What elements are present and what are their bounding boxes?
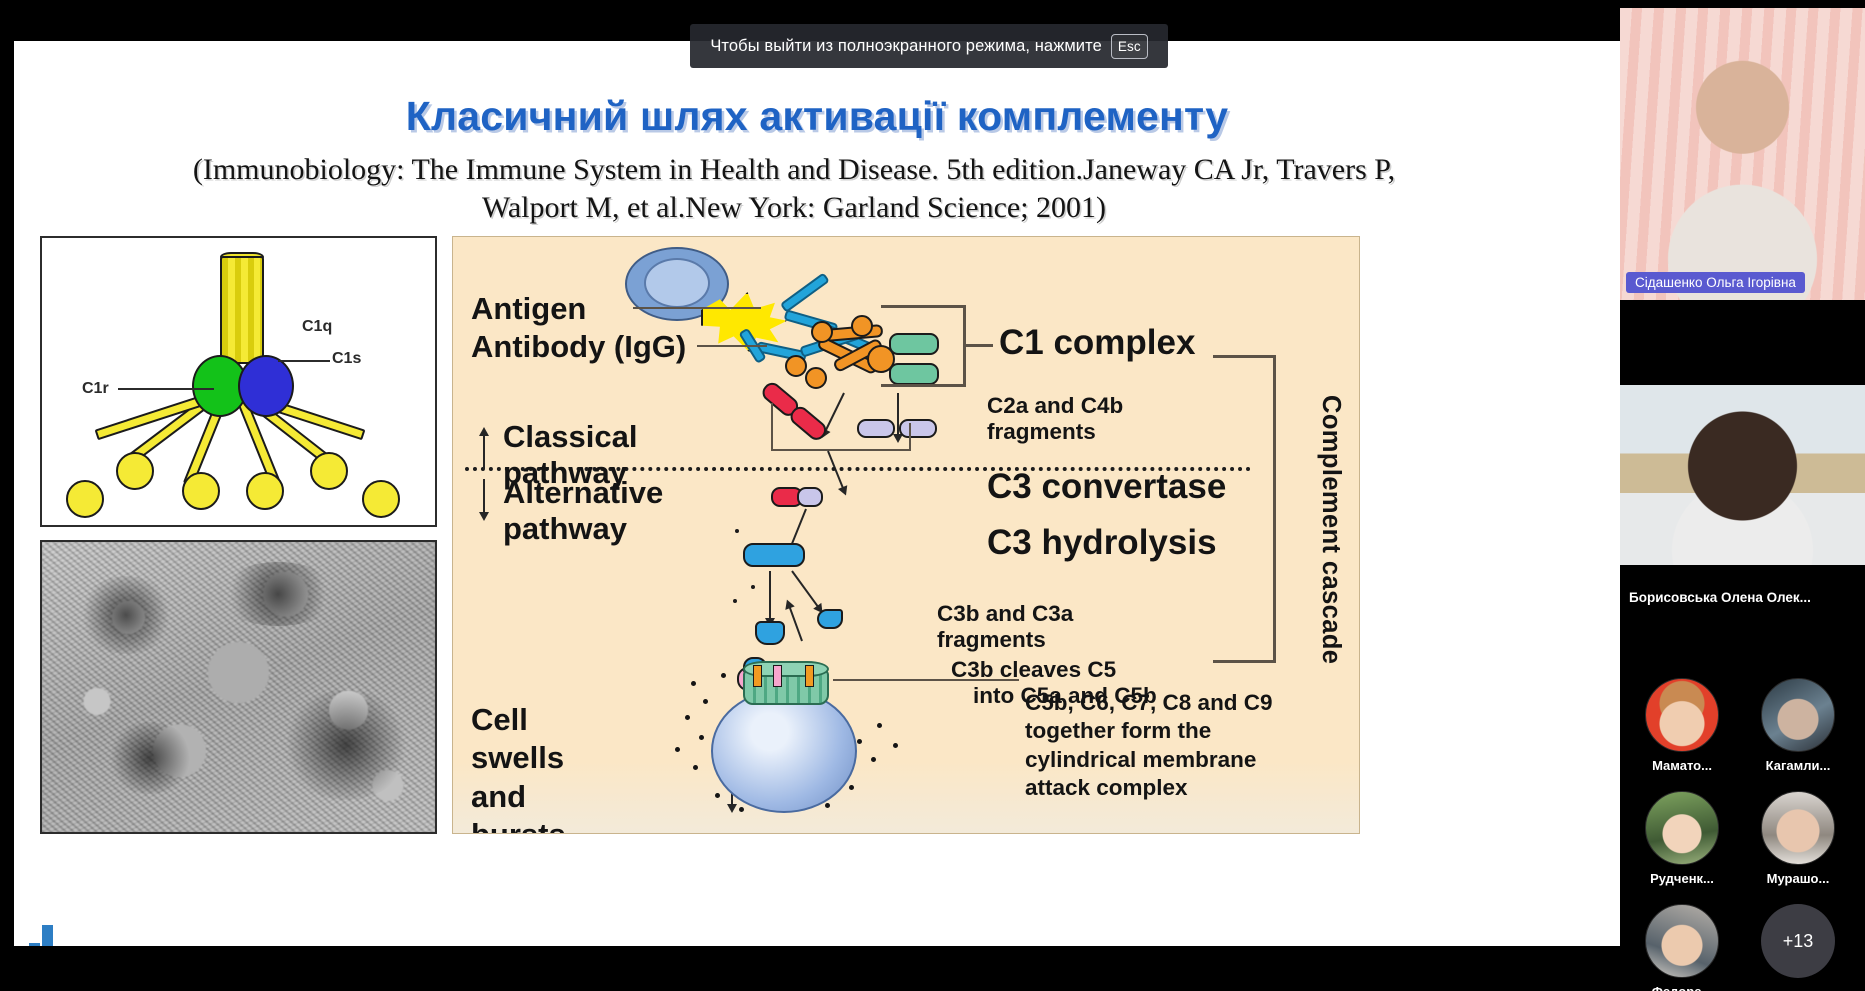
- alternative-line-2: pathway: [503, 511, 663, 547]
- c3b-c3a-line-1: C3b and C3a: [937, 601, 1073, 627]
- burst-speck-15: [893, 743, 898, 748]
- c2a-c4b-label: C2a and C4b fragments: [987, 393, 1123, 445]
- avatar-image-2: [1645, 791, 1719, 865]
- arrow-c1-to-c2a: [825, 393, 845, 432]
- participants-rail: Сідашенко Ольга Ігорівна Борисовська Оле…: [1620, 0, 1865, 991]
- c1-green-rod-1: [889, 333, 939, 355]
- c1q-knob-1: [116, 452, 154, 490]
- avatar-tile-1[interactable]: Кагамли...: [1744, 678, 1852, 773]
- cascade-bracket-vertical: [1273, 355, 1276, 663]
- avatar-overflow-tile[interactable]: +13: [1744, 904, 1852, 978]
- decorative-corner-bars: [14, 899, 58, 946]
- classical-line-1: Classical: [503, 419, 637, 455]
- c1-bracket-stem: [965, 344, 993, 347]
- antigen-leader-line: [633, 307, 761, 309]
- avatar-image-3: [1761, 791, 1835, 865]
- fullscreen-exit-toast: Чтобы выйти из полноэкранного режима, на…: [690, 24, 1168, 68]
- c1q-label: C1q: [302, 318, 332, 336]
- antibody-label: Antibody (IgG): [471, 329, 686, 365]
- cell-bursts-label: Cell swells and bursts: [471, 701, 566, 834]
- burst-speck-5: [675, 747, 680, 752]
- antibody-leader-line: [697, 345, 767, 347]
- avatar-name-0: Мамато...: [1628, 758, 1736, 773]
- convertase-bracket-bottom: [771, 449, 911, 451]
- antigen-label: Antigen: [471, 291, 586, 327]
- video-tile-participant[interactable]: [1620, 385, 1865, 565]
- video-feed-speaker: [1620, 8, 1865, 300]
- participant-name-label-1: Борисовська Олена Олек...: [1629, 590, 1811, 605]
- c2a-c4b-line-1: C2a and C4b: [987, 393, 1123, 419]
- avatar-name-4: Федоре...: [1628, 984, 1736, 991]
- c5-complex-shape: [735, 529, 739, 533]
- mac-line-4: attack complex: [1025, 774, 1273, 802]
- micrograph-blob-4: [106, 722, 194, 794]
- burst-speck-9: [857, 739, 862, 744]
- burst-speck-2: [703, 699, 708, 704]
- burst-speck-13: [825, 803, 830, 808]
- burst-speck-6: [693, 765, 698, 770]
- screen-root: Чтобы выйти из полноэкранного режима, на…: [0, 0, 1865, 991]
- burst-speck-12: [849, 785, 854, 790]
- c1r-leader-line: [118, 388, 214, 390]
- micrograph-blob-1: [78, 576, 174, 654]
- antibody-arm-1: [780, 272, 830, 313]
- convertase-bracket-right: [909, 423, 911, 451]
- complement-cascade-label: Complement cascade: [1316, 395, 1345, 664]
- c3-convertase-lav: [797, 487, 823, 507]
- c1-bracket-top: [881, 305, 965, 308]
- slide-subtitle: (Immunobiology: The Immune System in Hea…: [54, 151, 1534, 227]
- c3b-c3a-line-2: fragments: [937, 627, 1073, 653]
- classical-pathway-arrow: [483, 435, 485, 469]
- c1q-knob-2: [182, 472, 220, 510]
- c1r-label: C1r: [82, 380, 109, 398]
- mac-line-3: cylindrical membrane: [1025, 746, 1273, 774]
- mac-subunit-orange-left: [753, 665, 762, 687]
- c1-orange-dot-4: [805, 367, 827, 389]
- avatar-name-2: Рудченк...: [1628, 871, 1736, 886]
- c4b-fragment-1: [857, 419, 895, 438]
- avatar-tile-3[interactable]: Мурашо...: [1744, 791, 1852, 886]
- c1-bracket-bottom: [881, 384, 965, 387]
- c1-green-rod-2: [889, 363, 939, 385]
- avatar-tile-2[interactable]: Рудченк...: [1628, 791, 1736, 886]
- mac-description-label: C5b, C6, C7, C8 and C9 together form the…: [1025, 689, 1273, 802]
- c1q-knob-5: [66, 480, 104, 518]
- cascade-bracket-bottom: [1213, 660, 1275, 663]
- target-cell: [711, 689, 857, 813]
- c4b-fragment-2: [899, 419, 937, 438]
- complement-cascade-figure: C1 complex Antigen Antibody (IgG) C2a an…: [452, 236, 1360, 834]
- arrow-to-c3b: [769, 571, 771, 619]
- c1-orange-dot-3: [785, 355, 807, 377]
- arrow-to-c3a: [791, 570, 818, 607]
- avatar-overflow-count: +13: [1761, 904, 1835, 978]
- alternative-pathway-label: Alternative pathway: [503, 475, 663, 547]
- avatar-tile-4[interactable]: Федоре...: [1628, 904, 1736, 991]
- burst-speck-4: [699, 735, 704, 740]
- c2a-c4b-line-2: fragments: [987, 419, 1123, 445]
- c1s-domain: [238, 355, 294, 417]
- slide-subtitle-line-1: (Immunobiology: The Immune System in Hea…: [54, 151, 1534, 189]
- mac-leader-line: [833, 679, 1019, 681]
- c1-complex-label: C1 complex: [999, 323, 1195, 364]
- avatar-tile-0[interactable]: Мамато...: [1628, 678, 1736, 773]
- burst-speck-11: [871, 757, 876, 762]
- c3b-c5-pink-rod: [733, 599, 737, 603]
- c3-hydrolysis-shape: [743, 543, 805, 567]
- alternative-pathway-arrow: [483, 479, 485, 513]
- cell-line-3: and: [471, 778, 566, 816]
- mac-line-1: C5b, C6, C7, C8 and C9: [1025, 689, 1273, 717]
- cell-line-4: bursts: [471, 816, 566, 834]
- avatar-name-1: Кагамли...: [1744, 758, 1852, 773]
- avatar-image-4: [1645, 904, 1719, 978]
- burst-speck-14: [721, 673, 726, 678]
- slide-subtitle-line-2: Walport M, et al.New York: Garland Scien…: [54, 189, 1534, 227]
- micrograph-blob-3: [280, 690, 412, 800]
- c3b-fragment: [755, 621, 785, 645]
- burst-speck-1: [691, 681, 696, 686]
- video-feed-participant: [1620, 385, 1865, 565]
- c3a-fragment: [817, 609, 843, 629]
- electron-micrograph-panel: [40, 540, 437, 834]
- convertase-bracket-left: [771, 403, 773, 451]
- c1q-stalk: [220, 256, 264, 364]
- c1q-knob-6: [362, 480, 400, 518]
- avatar-name-3: Мурашо...: [1744, 871, 1852, 886]
- c1s-leader-line: [278, 360, 330, 362]
- c1q-knob-3: [246, 472, 284, 510]
- micrograph-blob-2: [218, 562, 338, 626]
- arrow-to-c5-cleavage: [789, 607, 803, 642]
- presentation-slide[interactable]: Класичний шлях активації комплементу (Im…: [14, 41, 1620, 946]
- burst-speck-10: [877, 723, 882, 728]
- mac-line-2: together form the: [1025, 717, 1273, 745]
- fullscreen-toast-text: Чтобы выйти из полноэкранного режима, на…: [710, 37, 1102, 56]
- c1-orange-dot-2: [851, 315, 873, 337]
- c1q-knob-4: [310, 452, 348, 490]
- burst-speck-3: [685, 715, 690, 720]
- video-tile-speaker[interactable]: Сідашенко Ольга Ігорівна: [1620, 8, 1865, 300]
- c1s-label: C1s: [332, 350, 361, 368]
- antigen-inner-shape: [644, 258, 710, 308]
- c3-convertase-label: C3 convertase: [987, 467, 1226, 508]
- slide-title: Класичний шлях активації комплементу: [14, 93, 1620, 140]
- cell-line-1: Cell: [471, 701, 566, 739]
- c1-orange-dot-1: [811, 321, 833, 343]
- alternative-line-1: Alternative: [503, 475, 663, 511]
- c1q-schematic-panel: C1q C1r C1s: [40, 236, 437, 527]
- participant-name-chip-0: Сідашенко Ольга Ігорівна: [1626, 272, 1805, 293]
- mac-subunit-orange-right: [805, 665, 814, 687]
- burst-speck-8: [739, 807, 744, 812]
- c3-hydrolysis-label: C3 hydrolysis: [987, 523, 1217, 564]
- cell-line-2: swells: [471, 739, 566, 777]
- mac-subunit-pink: [773, 665, 782, 687]
- esc-key-badge: Esc: [1111, 34, 1148, 59]
- burst-speck-7: [715, 793, 720, 798]
- c3b-c3a-label: C3b and C3a fragments: [937, 601, 1073, 653]
- avatar-image-0: [1645, 678, 1719, 752]
- cascade-bracket-top: [1213, 355, 1275, 358]
- avatar-image-1: [1761, 678, 1835, 752]
- c5-substrate: [751, 585, 755, 589]
